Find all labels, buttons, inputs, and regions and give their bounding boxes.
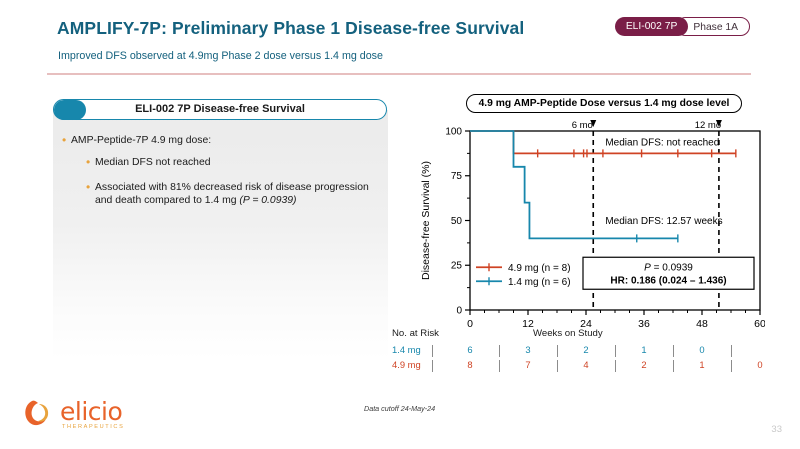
data-cutoff-note: Data cutoff 24-May-24 xyxy=(364,404,435,413)
risk-table-cell: 7 xyxy=(517,359,539,370)
risk-table-cell: 0 xyxy=(749,359,771,370)
risk-table-cell: 1 xyxy=(633,344,655,355)
logo-tagline: THERAPEUTICS xyxy=(62,424,124,430)
list-item-label-italic: (P = 0.0939) xyxy=(239,195,296,206)
panel-header-label: ELI-002 7P Disease-free Survival xyxy=(53,99,387,120)
risk-table-caption: No. at Risk xyxy=(392,328,439,339)
svg-text:Disease-free Survival (%): Disease-free Survival (%) xyxy=(420,161,432,280)
risk-table-cell: 1 xyxy=(691,359,713,370)
svg-text:1.4 mg (n = 6): 1.4 mg (n = 6) xyxy=(508,277,571,288)
svg-text:4.9 mg (n = 8): 4.9 mg (n = 8) xyxy=(508,263,571,274)
risk-table-separator xyxy=(615,345,616,357)
list-item-label: AMP-Peptide-7P 4.9 mg dose: xyxy=(71,134,211,147)
table-row: 1.4 mg63210 xyxy=(392,344,772,358)
left-content-panel xyxy=(53,110,388,360)
risk-table-separator xyxy=(499,345,500,357)
risk-table-separator xyxy=(557,360,558,372)
bullet-dot-icon: • xyxy=(86,156,95,169)
svg-text:P = 0.0939: P = 0.0939 xyxy=(644,262,693,273)
risk-table-row-label: 4.9 mg xyxy=(392,359,421,370)
svg-text:75: 75 xyxy=(451,171,463,182)
x-axis-label: Weeks on Study xyxy=(533,328,603,339)
svg-text:0: 0 xyxy=(456,305,462,316)
svg-text:25: 25 xyxy=(451,261,463,272)
svg-text:HR: 0.186 (0.024 – 1.436): HR: 0.186 (0.024 – 1.436) xyxy=(610,275,726,286)
risk-table-cell: 3 xyxy=(517,344,539,355)
risk-table-cell: 4 xyxy=(575,359,597,370)
svg-text:6 mo: 6 mo xyxy=(572,120,593,131)
risk-table-separator xyxy=(432,345,433,357)
list-item: • AMP-Peptide-7P 4.9 mg dose: xyxy=(62,134,382,147)
list-item-label-plain: Associated with 81% decreased risk of di… xyxy=(95,182,369,206)
list-item: • Median DFS not reached xyxy=(86,156,386,169)
bullet-dot-icon: • xyxy=(62,134,71,147)
risk-table-separator xyxy=(615,360,616,372)
risk-table-separator xyxy=(499,360,500,372)
table-row: 4.9 mg874210 xyxy=(392,359,772,373)
chart-title: 4.9 mg AMP-Peptide Dose versus 1.4 mg do… xyxy=(466,94,742,113)
elicio-swirl-icon xyxy=(22,397,56,429)
header-divider xyxy=(47,73,751,75)
risk-table-separator xyxy=(731,360,732,372)
page-title: AMPLIFY-7P: Preliminary Phase 1 Disease-… xyxy=(57,18,524,39)
risk-table-cell: 2 xyxy=(633,359,655,370)
risk-table-separator xyxy=(731,345,732,357)
list-item: • Associated with 81% decreased risk of … xyxy=(86,181,378,207)
risk-table-cell: 8 xyxy=(459,359,481,370)
page-subtitle: Improved DFS observed at 4.9mg Phase 2 d… xyxy=(58,50,383,62)
risk-table-separator xyxy=(432,360,433,372)
risk-table-separator xyxy=(673,360,674,372)
list-item-label: Median DFS not reached xyxy=(95,156,211,169)
svg-text:60: 60 xyxy=(754,318,765,330)
status-badge-study: ELI-002 7P xyxy=(615,17,689,36)
svg-text:48: 48 xyxy=(696,318,708,330)
logo-wordmark: elicio xyxy=(60,399,122,424)
risk-table-separator xyxy=(673,345,674,357)
svg-text:100: 100 xyxy=(445,126,462,137)
badge-group: ELI-002 7P Phase 1A xyxy=(615,17,750,36)
svg-text:36: 36 xyxy=(638,318,650,330)
bullet-dot-icon: • xyxy=(86,181,95,194)
risk-table-cell: 6 xyxy=(459,344,481,355)
svg-text:Median DFS: 12.57 weeks: Median DFS: 12.57 weeks xyxy=(605,216,722,227)
risk-table-cell: 2 xyxy=(575,344,597,355)
risk-table-cell: 0 xyxy=(691,344,713,355)
list-item-label: Associated with 81% decreased risk of di… xyxy=(95,181,378,207)
elicio-logo: elicio THERAPEUTICS xyxy=(22,397,132,433)
svg-text:Median DFS: not reached: Median DFS: not reached xyxy=(605,137,719,148)
svg-text:50: 50 xyxy=(451,216,463,227)
risk-table-separator xyxy=(557,345,558,357)
risk-table-row-label: 1.4 mg xyxy=(392,344,421,355)
svg-text:0: 0 xyxy=(467,318,473,330)
slide-number: 33 xyxy=(771,424,782,435)
